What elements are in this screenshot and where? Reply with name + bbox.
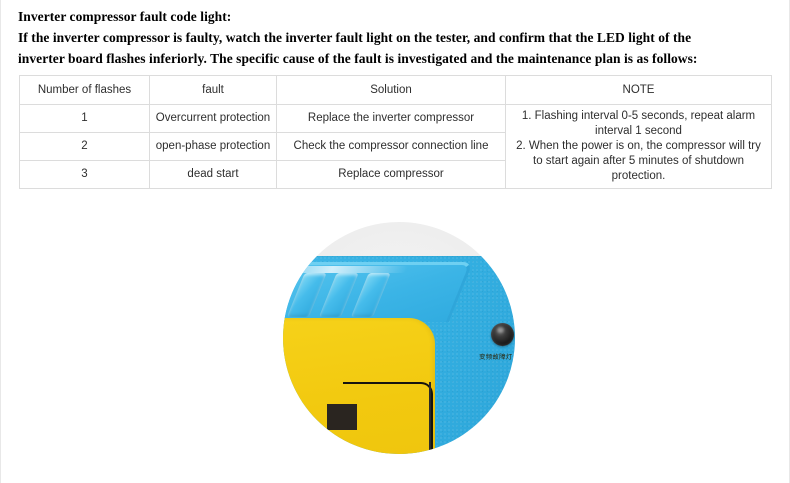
cell-solution: Replace the inverter compressor [277, 105, 506, 133]
device-illustration: 变频故障灯 ➡ 变频压缩机 [283, 222, 515, 454]
cell-flashes: 3 [20, 161, 150, 189]
cell-flashes: 1 [20, 105, 150, 133]
note-line: protection. [511, 169, 766, 184]
fault-code-table: Number of flashes fault Solution NOTE 1 … [19, 75, 772, 189]
faceplate-seam [429, 382, 431, 454]
photo-canvas: 变频故障灯 ➡ 变频压缩机 [19, 196, 771, 476]
cell-flashes: 2 [20, 133, 150, 161]
vent-slot [351, 273, 391, 317]
column-header-note: NOTE [506, 76, 772, 105]
note-line: 1. Flashing interval 0-5 seconds, repeat… [511, 109, 766, 124]
column-header-fault: fault [150, 76, 277, 105]
intro-text-block: Inverter compressor fault code light: If… [18, 6, 774, 69]
inverter-board-photo: 变频故障灯 ➡ 变频压缩机 [19, 196, 771, 476]
faceplate-dark-block [327, 404, 357, 430]
cell-solution: Check the compressor connection line [277, 133, 506, 161]
column-header-solution: Solution [277, 76, 506, 105]
cell-fault: dead start [150, 161, 277, 189]
note-line: 2. When the power is on, the compressor … [511, 139, 766, 154]
cell-fault: open-phase protection [150, 133, 277, 161]
intro-paragraph-line-1: If the inverter compressor is faulty, wa… [18, 27, 774, 48]
table-header-row: Number of flashes fault Solution NOTE [20, 76, 772, 105]
cell-note: 1. Flashing interval 0-5 seconds, repeat… [506, 105, 772, 189]
cell-solution: Replace compressor [277, 161, 506, 189]
note-line: interval 1 second [511, 124, 766, 139]
intro-paragraph-line-2: inverter board flashes inferiorly. The s… [18, 48, 774, 69]
vent-highlight [283, 266, 408, 273]
led-label-text: 变频故障灯 [479, 351, 513, 361]
inverter-fault-led-icon [491, 323, 514, 346]
column-header-flashes: Number of flashes [20, 76, 150, 105]
document-page: Inverter compressor fault code light: If… [0, 0, 790, 483]
page-title: Inverter compressor fault code light: [18, 6, 774, 27]
table-row: 1 Overcurrent protection Replace the inv… [20, 105, 772, 133]
cell-fault: Overcurrent protection [150, 105, 277, 133]
note-line: to start again after 5 minutes of shutdo… [511, 154, 766, 169]
